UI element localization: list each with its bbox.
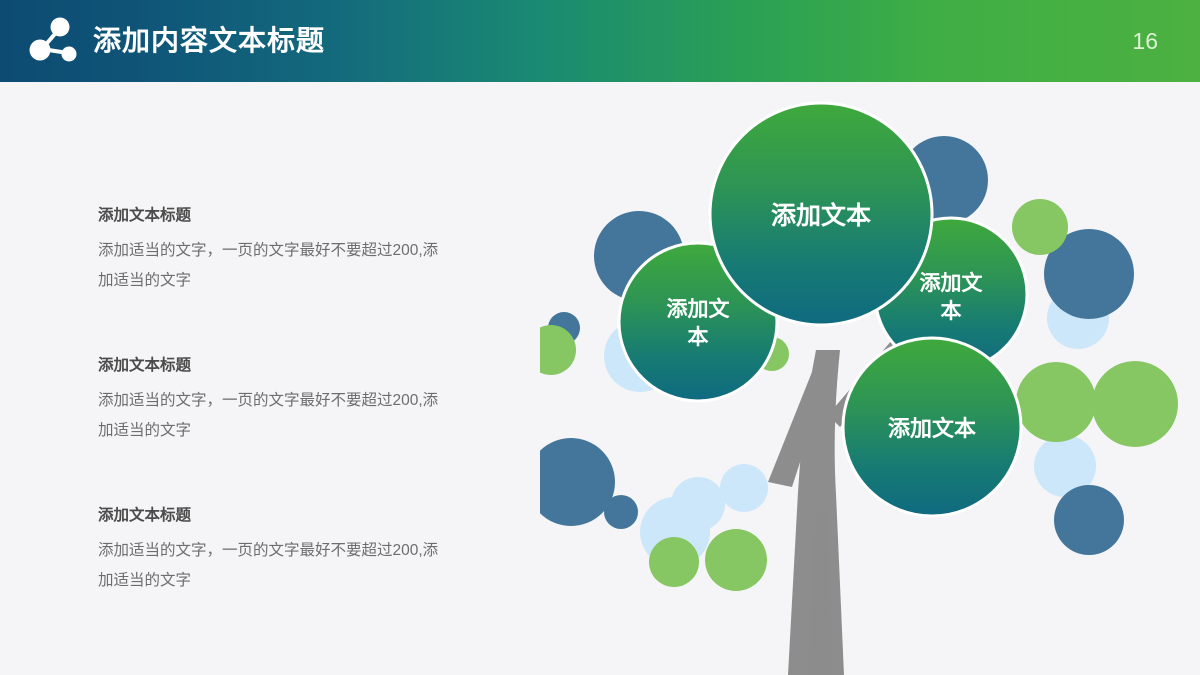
tree-diagram-svg: 添加文 本 添加文 本 添加文本 添加文本	[540, 82, 1200, 675]
text-block: 添加文本标题 添加适当的文字，一页的文字最好不要超过200,添加适当的文字	[98, 355, 468, 446]
tree-bubble-main[interactable]: 添加文本	[710, 103, 932, 325]
tree-infographic: 添加文 本 添加文 本 添加文本 添加文本	[540, 82, 1200, 675]
tree-bubble-right-label-line2: 本	[941, 300, 962, 323]
slide-canvas: 添加内容文本标题 16 添加文本标题 添加适当的文字，一页的文字最好不要超过20…	[0, 0, 1200, 675]
text-block: 添加文本标题 添加适当的文字，一页的文字最好不要超过200,添加适当的文字	[98, 205, 468, 296]
tree-bubble-left-label-line1: 添加文	[667, 297, 731, 321]
text-block-body: 添加适当的文字，一页的文字最好不要超过200,添加适当的文字	[98, 386, 450, 446]
text-block: 添加文本标题 添加适当的文字，一页的文字最好不要超过200,添加适当的文字	[98, 505, 468, 596]
page-number: 16	[1132, 26, 1158, 56]
text-block-body: 添加适当的文字，一页的文字最好不要超过200,添加适当的文字	[98, 236, 450, 296]
tree-bubble-main-label: 添加文本	[771, 201, 871, 230]
text-block-body: 添加适当的文字，一页的文字最好不要超过200,添加适当的文字	[98, 536, 450, 596]
page-title: 添加内容文本标题	[93, 21, 325, 61]
slide-header-bar: 添加内容文本标题 16	[0, 0, 1200, 82]
content-text-column: 添加文本标题 添加适当的文字，一页的文字最好不要超过200,添加适当的文字 添加…	[98, 205, 468, 596]
tree-bubble-bottom-right-label: 添加文本	[888, 416, 976, 441]
molecule-network-icon	[22, 13, 80, 69]
tree-bubble-left-label-line2: 本	[688, 326, 709, 349]
tree-bubble-bottom-right[interactable]: 添加文本	[843, 338, 1021, 516]
text-block-heading: 添加文本标题	[98, 355, 468, 377]
text-block-heading: 添加文本标题	[98, 205, 468, 227]
text-block-heading: 添加文本标题	[98, 505, 468, 527]
tree-bubble-right-label-line1: 添加文	[920, 271, 984, 295]
